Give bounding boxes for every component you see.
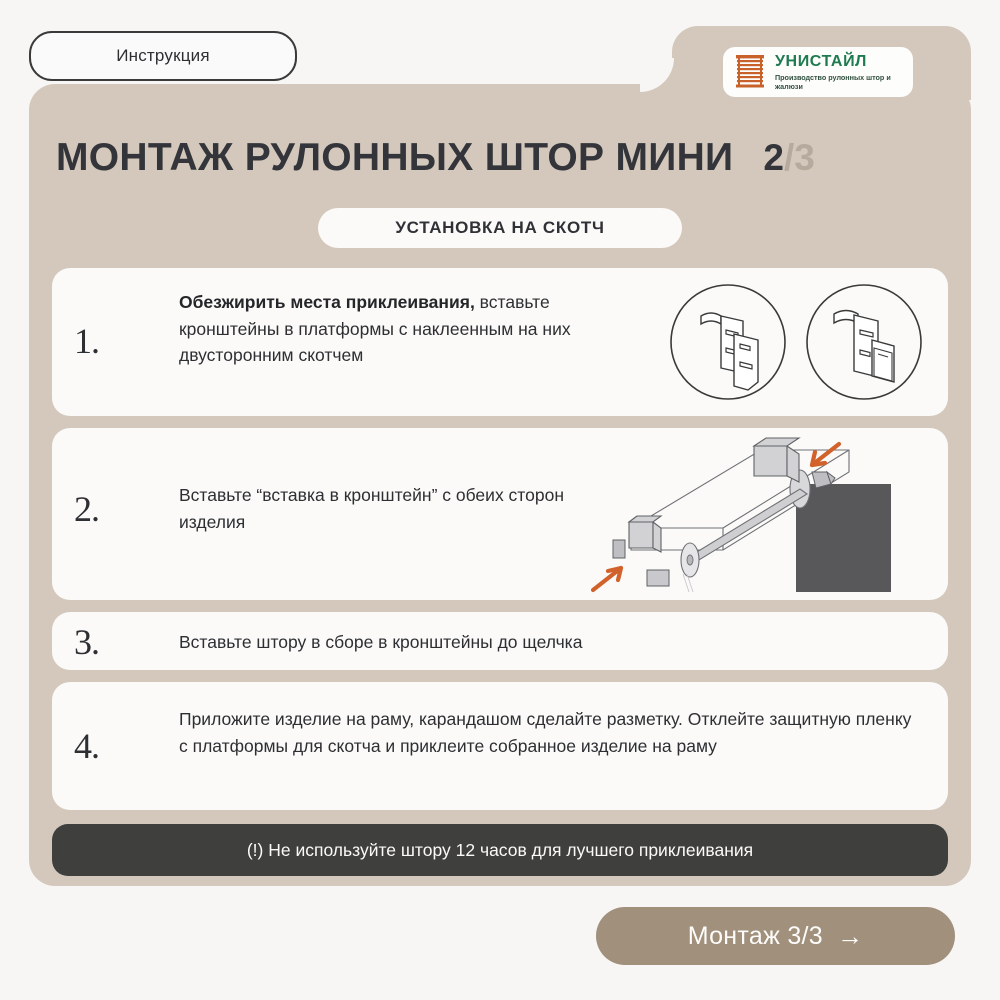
bracket-platform-circle-left-icon <box>668 282 788 402</box>
step-number-1: 1. <box>74 320 99 362</box>
step-text-2: Вставьте “вставка в кронштейн” с обеих с… <box>179 482 599 535</box>
page-indicator-total: /3 <box>784 137 815 178</box>
step-1-illustrations <box>668 282 924 402</box>
section-subtitle-label: УСТАНОВКА НА СКОТЧ <box>395 218 604 238</box>
brand-logo: УНИСТАЙЛ Производство рулонных штор и жа… <box>723 47 913 97</box>
page-title-text: МОНТАЖ РУЛОННЫХ ШТОР МИНИ <box>56 136 733 180</box>
step-text-1-bold: Обезжирить места приклеивания, <box>179 292 475 312</box>
next-page-button[interactable]: Монтаж 3/3 → <box>596 907 955 965</box>
step-number-4: 4. <box>74 725 99 767</box>
panel-tab-notch <box>640 58 674 92</box>
next-page-label: Монтаж 3/3 <box>688 922 823 951</box>
logo-subtitle: Производство рулонных штор и жалюзи <box>775 73 904 91</box>
arrow-right-icon: → <box>837 923 863 949</box>
step-card-4: 4. Приложите изделие на раму, карандашом… <box>52 682 948 810</box>
step-number-2: 2. <box>74 488 99 530</box>
step-text-1: Обезжирить места приклеивания, вставьте … <box>179 289 609 369</box>
roller-blind-icon <box>732 53 768 91</box>
step-card-2: 2. Вставьте “вставка в кронштейн” с обеи… <box>52 428 948 600</box>
instruction-chip[interactable]: Инструкция <box>29 31 297 81</box>
step-card-1: 1. Обезжирить места приклеивания, вставь… <box>52 268 948 416</box>
logo-text-block: УНИСТАЙЛ Производство рулонных штор и жа… <box>775 54 904 91</box>
instruction-chip-label: Инструкция <box>116 46 210 66</box>
step-text-3: Вставьте штору в сборе в кронштейны до щ… <box>179 629 899 656</box>
section-subtitle: УСТАНОВКА НА СКОТЧ <box>318 208 682 248</box>
next-button-wrapper: Монтаж 3/3 → <box>580 898 971 974</box>
page-indicator-current: 2 <box>763 137 784 178</box>
step-number-3: 3. <box>74 621 99 663</box>
warning-banner: (!) Не используйте штору 12 часов для лу… <box>52 824 948 876</box>
step-card-3: 3. Вставьте штору в сборе в кронштейны д… <box>52 612 948 670</box>
page-indicator: 2/3 <box>763 137 814 179</box>
bracket-platform-circle-right-icon <box>804 282 924 402</box>
page-title: МОНТАЖ РУЛОННЫХ ШТОР МИНИ 2/3 <box>56 132 956 184</box>
logo-name: УНИСТАЙЛ <box>775 54 904 70</box>
roller-blind-assembly-icon <box>591 432 936 596</box>
infographic-root: Инструкция УНИСТАЙЛ Производство рулонны… <box>0 0 1000 1000</box>
warning-banner-text: (!) Не используйте штору 12 часов для лу… <box>247 840 753 861</box>
step-text-4: Приложите изделие на раму, карандашом сд… <box>179 706 919 759</box>
